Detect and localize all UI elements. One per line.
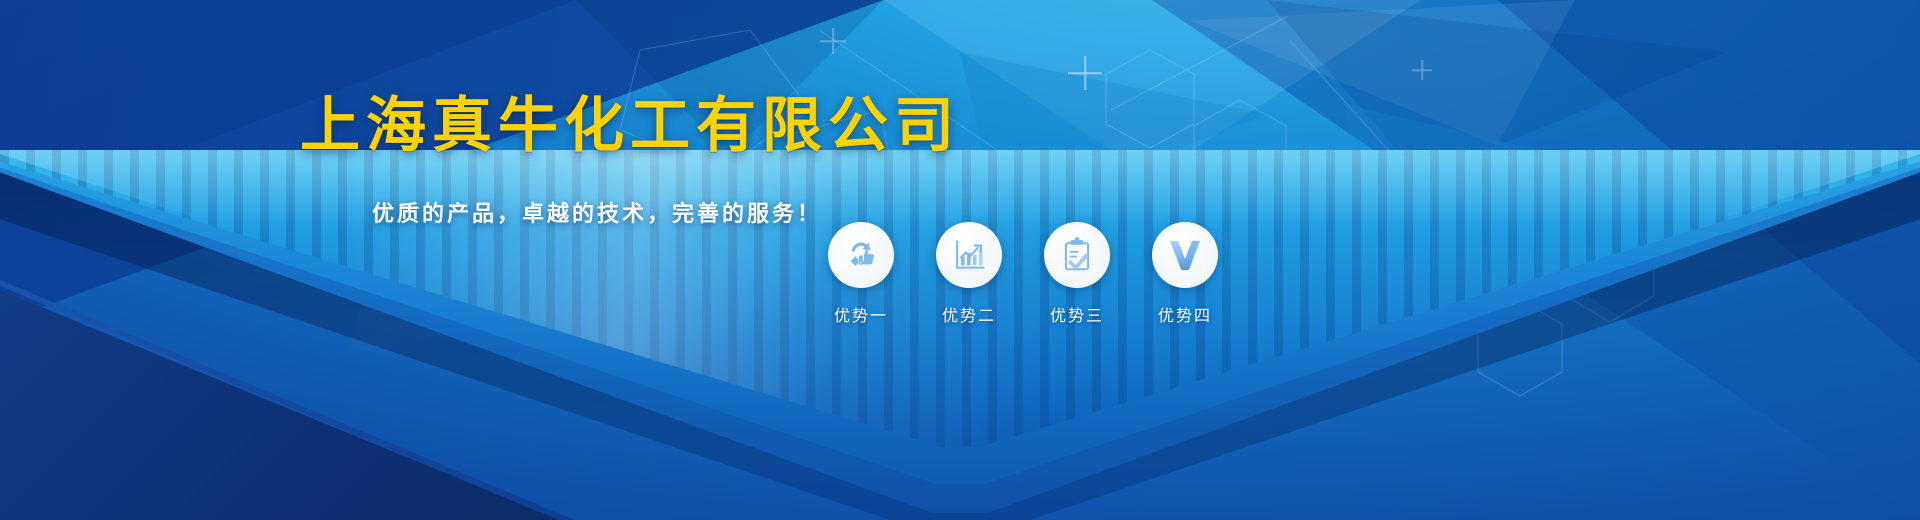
v-check-icon <box>1165 235 1205 275</box>
bar-chart-growth-icon <box>950 236 988 274</box>
banner-content: 上海真牛化工有限公司 优质的产品，卓越的技术，完善的服务！ <box>0 0 1920 520</box>
advantage-icon-circle-3 <box>1044 222 1110 288</box>
advantage-item-4[interactable]: 优势四 <box>1152 222 1218 326</box>
clipboard-check-icon <box>1058 236 1096 274</box>
advantage-icon-circle-2 <box>936 222 1002 288</box>
advantage-list: 优势一 <box>828 222 1218 326</box>
advantage-label-2: 优势二 <box>942 302 996 326</box>
advantage-label-1: 优势一 <box>834 302 888 326</box>
advantage-label-4: 优势四 <box>1158 302 1212 326</box>
advantage-item-1[interactable]: 优势一 <box>828 222 894 326</box>
company-hero-banner: 上海真牛化工有限公司 优质的产品，卓越的技术，完善的服务！ <box>0 0 1920 520</box>
company-slogan: 优质的产品，卓越的技术，完善的服务！ <box>372 196 822 228</box>
advantage-icon-circle-4 <box>1152 222 1218 288</box>
company-title: 上海真牛化工有限公司 <box>300 94 960 158</box>
advantage-icon-circle-1 <box>828 222 894 288</box>
advantage-item-3[interactable]: 优势三 <box>1044 222 1110 326</box>
advantage-item-2[interactable]: 优势二 <box>936 222 1002 326</box>
advantage-label-3: 优势三 <box>1050 302 1104 326</box>
recycle-thumbsup-icon <box>841 235 881 275</box>
